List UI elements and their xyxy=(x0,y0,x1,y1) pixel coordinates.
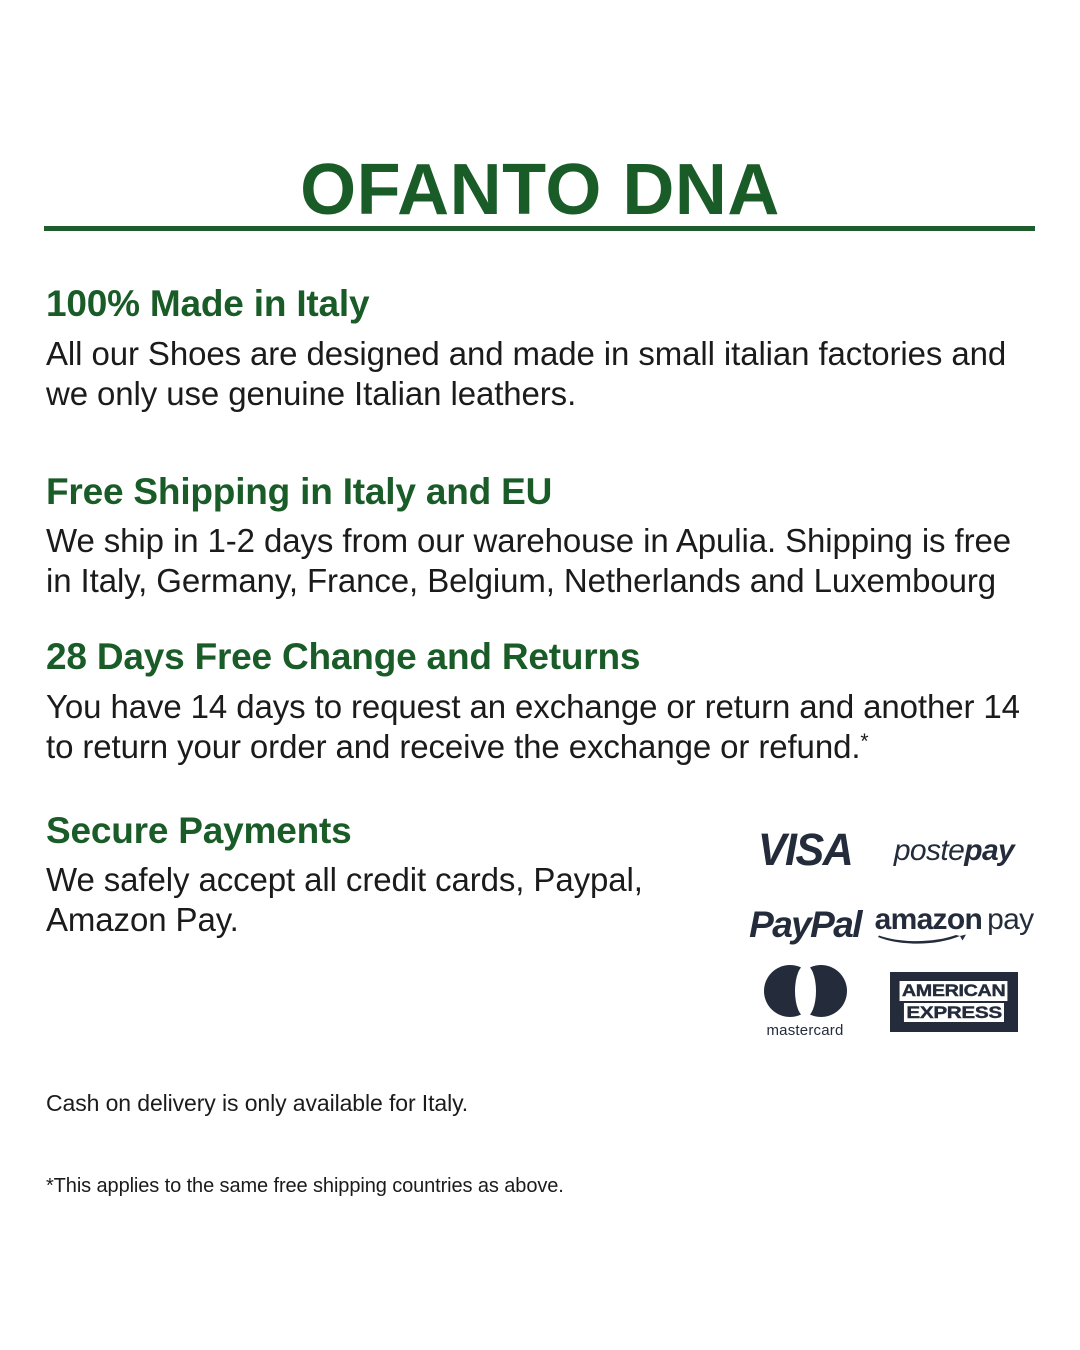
postepay-icon: postepay xyxy=(894,834,1014,868)
returns-asterisk-marker: * xyxy=(860,730,868,753)
section-heading-free-shipping: Free Shipping in Italy and EU xyxy=(46,470,1036,514)
section-free-shipping: Free Shipping in Italy and EU We ship in… xyxy=(46,470,1036,602)
section-returns: 28 Days Free Change and Returns You have… xyxy=(46,635,1036,767)
section-heading-secure-payments: Secure Payments xyxy=(46,809,686,853)
postepay-label-bold: pay xyxy=(964,834,1014,867)
section-body-returns-text: You have 14 days to request an exchange … xyxy=(46,688,1020,765)
american-express-icon: AMERICAN EXPRESS xyxy=(890,972,1018,1032)
section-secure-payments: Secure Payments We safely accept all cre… xyxy=(46,809,1036,941)
section-heading-made-in-italy: 100% Made in Italy xyxy=(46,282,1036,326)
postepay-logo-cell: postepay xyxy=(884,814,1024,888)
paypal-icon: PayPal xyxy=(749,904,861,946)
section-body-made-in-italy: All our Shoes are designed and made in s… xyxy=(46,334,1036,414)
content-column: 100% Made in Italy All our Shoes are des… xyxy=(46,282,1036,940)
postepay-label-light: poste xyxy=(894,834,964,867)
amazon-pay-logo-cell: amazonpay xyxy=(884,888,1024,962)
amazon-pay-label: pay xyxy=(987,903,1033,936)
paypal-logo-cell: PayPal xyxy=(740,888,870,962)
payment-logos-grid: VISA postepay PayPal amazonpay xyxy=(740,814,1040,1042)
section-made-in-italy: 100% Made in Italy All our Shoes are des… xyxy=(46,282,1036,414)
section-body-secure-payments: We safely accept all credit cards, Paypa… xyxy=(46,860,686,940)
mastercard-circles xyxy=(764,965,847,1017)
ofanto-dna-info-page: OFANTO DNA 100% Made in Italy All our Sh… xyxy=(0,0,1080,1350)
amex-label-line2: EXPRESS xyxy=(904,1003,1004,1023)
visa-logo-cell: VISA xyxy=(740,814,870,888)
mastercard-label: mastercard xyxy=(766,1022,843,1039)
american-express-logo-cell: AMERICAN EXPRESS xyxy=(884,962,1024,1042)
page-title: OFANTO DNA xyxy=(0,149,1080,232)
mastercard-logo-cell: mastercard xyxy=(740,962,870,1042)
secure-payments-text-block: Secure Payments We safely accept all cre… xyxy=(46,809,686,941)
asterisk-footnote: *This applies to the same free shipping … xyxy=(46,1175,564,1198)
amazon-swoosh-icon xyxy=(876,934,968,945)
cash-on-delivery-note: Cash on delivery is only available for I… xyxy=(46,1090,468,1117)
title-divider xyxy=(44,226,1035,231)
section-body-returns: You have 14 days to request an exchange … xyxy=(46,687,1036,767)
section-heading-returns: 28 Days Free Change and Returns xyxy=(46,635,1036,679)
section-body-free-shipping: We ship in 1-2 days from our warehouse i… xyxy=(46,521,1036,601)
visa-icon: VISA xyxy=(758,825,852,877)
amex-label-line1: AMERICAN xyxy=(900,981,1008,1001)
amazon-label: amazon xyxy=(875,903,983,936)
mastercard-icon: mastercard xyxy=(764,965,847,1039)
mastercard-overlap-lens xyxy=(795,965,816,1017)
amazon-pay-icon: amazonpay xyxy=(875,905,1034,944)
